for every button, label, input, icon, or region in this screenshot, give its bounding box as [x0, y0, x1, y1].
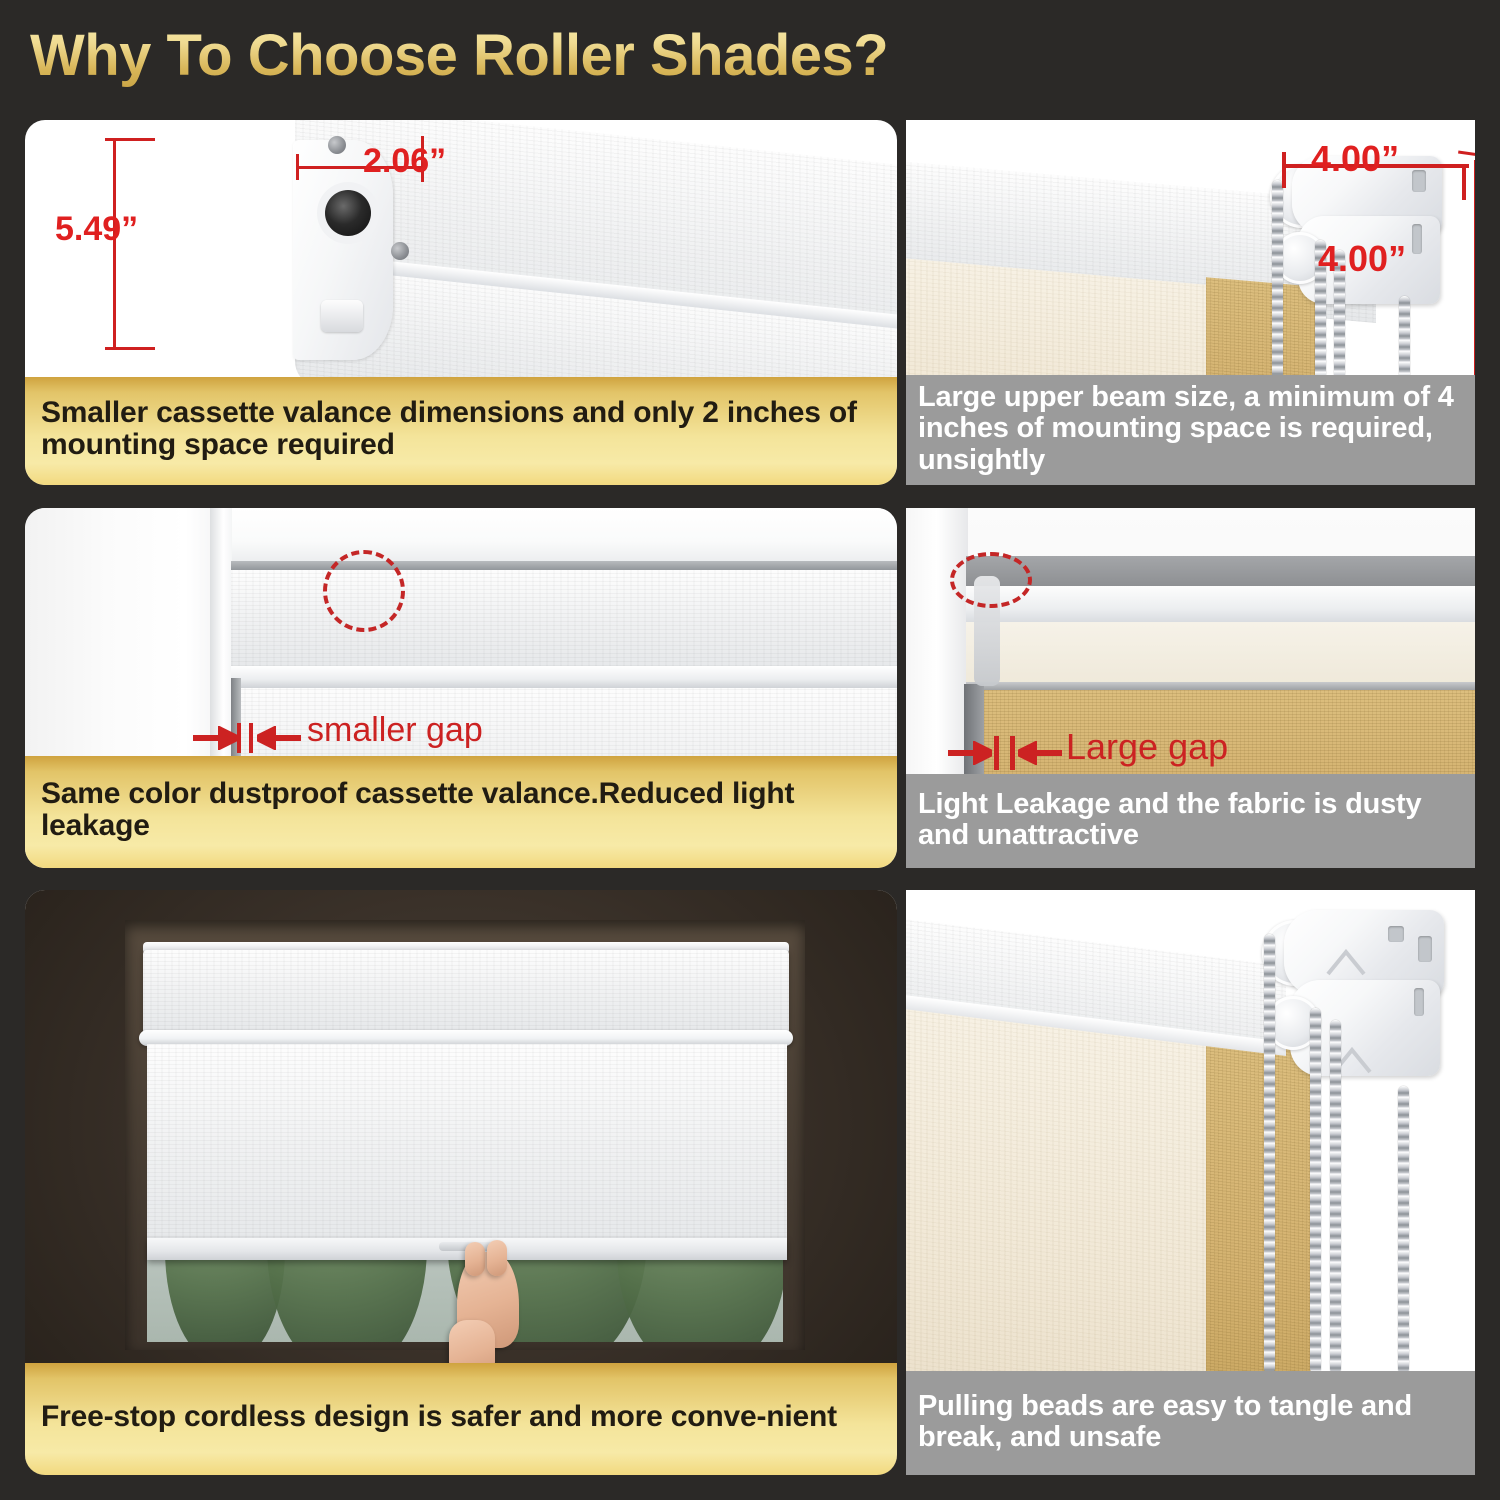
panel-cordless-design: Free-stop cordless design is safer and m… — [25, 890, 897, 1475]
beam-width-tick-left — [1282, 152, 1286, 188]
page-title: Why To Choose Roller Shades? — [30, 22, 888, 89]
screw-icon — [391, 242, 409, 260]
infographic-root: Why To Choose Roller Shades? 5.49” — [0, 0, 1500, 1500]
panel-smaller-cassette: 5.49” 2.06” Smaller cassette valance dim… — [25, 120, 897, 485]
bracket-slot-icon — [1388, 926, 1404, 942]
cassette-valance — [143, 950, 789, 1034]
window-frame-top — [215, 508, 897, 568]
caption-large-upper-beam: Large upper beam size, a minimum of 4 in… — [906, 375, 1475, 485]
height-dimension-label: 5.49” — [55, 210, 138, 249]
smaller-gap-label: smaller gap — [307, 711, 483, 750]
caption-light-leakage: Light Leakage and the fabric is dusty an… — [906, 774, 1475, 868]
finger-icon — [465, 1242, 485, 1276]
screw-icon — [328, 136, 346, 154]
bracket-slot-icon — [1412, 170, 1426, 192]
panel-dustproof-cassette: smaller gap Same color dustproof cassett… — [25, 508, 897, 868]
arrow-right-icon — [193, 726, 237, 750]
bead-chain — [1264, 934, 1275, 1374]
panel-light-leakage: Large gap Light Leakage and the fabric i… — [906, 508, 1475, 868]
beam-height-label: 4.00” — [1318, 238, 1406, 280]
gap-marker-right — [1010, 736, 1015, 770]
upper-beam-face — [966, 586, 1475, 624]
bracket-clip — [321, 300, 363, 332]
beam-width-label: 4.00” — [1311, 138, 1399, 180]
caption-dustproof-cassette: Same color dustproof cassette valance.Re… — [25, 756, 897, 868]
height-dimension-tick-bottom — [105, 347, 155, 350]
caption-pulling-beads: Pulling beads are easy to tangle and bre… — [906, 1371, 1475, 1475]
bead-chain — [1310, 1008, 1321, 1374]
width-dimension-tick-left — [296, 154, 299, 180]
panel-large-upper-beam: 4.00” 4.00” Large upper beam size, a min… — [906, 120, 1475, 485]
width-dimension-label: 2.06” — [363, 142, 446, 181]
bracket-arrow-emboss-icon — [1324, 944, 1368, 984]
finger-icon — [487, 1240, 507, 1276]
free-stop-mechanism — [325, 190, 371, 236]
height-dimension-tick-top — [105, 138, 155, 141]
highlight-circle — [950, 552, 1032, 608]
beam-width-tick-right — [1462, 164, 1466, 200]
upper-beam-top — [966, 556, 1475, 590]
bracket-slot-icon — [1412, 224, 1422, 254]
beam-lower-band — [966, 622, 1475, 684]
large-gap-label: Large gap — [1066, 726, 1228, 768]
beam-bottom-rail — [966, 682, 1475, 690]
highlight-circle — [323, 550, 405, 632]
bracket-slot-icon — [1414, 988, 1424, 1016]
gap-marker-left — [237, 723, 241, 753]
bead-chain — [1330, 1020, 1341, 1374]
gap-marker-right — [249, 723, 253, 753]
arrow-right-icon — [948, 741, 992, 765]
arrow-left-icon — [257, 726, 301, 750]
arrow-left-icon — [1018, 741, 1062, 765]
caption-cordless-design: Free-stop cordless design is safer and m… — [25, 1363, 897, 1475]
panel-pulling-beads: Pulling beads are easy to tangle and bre… — [906, 890, 1475, 1475]
gap-marker-left — [994, 736, 999, 770]
valance-bottom-rail — [231, 666, 897, 688]
bracket-slot-icon — [1418, 936, 1432, 962]
shade-fabric — [147, 1044, 787, 1249]
caption-smaller-cassette: Smaller cassette valance dimensions and … — [25, 377, 897, 485]
bead-chain — [1398, 1086, 1409, 1374]
beam-height-tick-top — [1458, 151, 1475, 161]
